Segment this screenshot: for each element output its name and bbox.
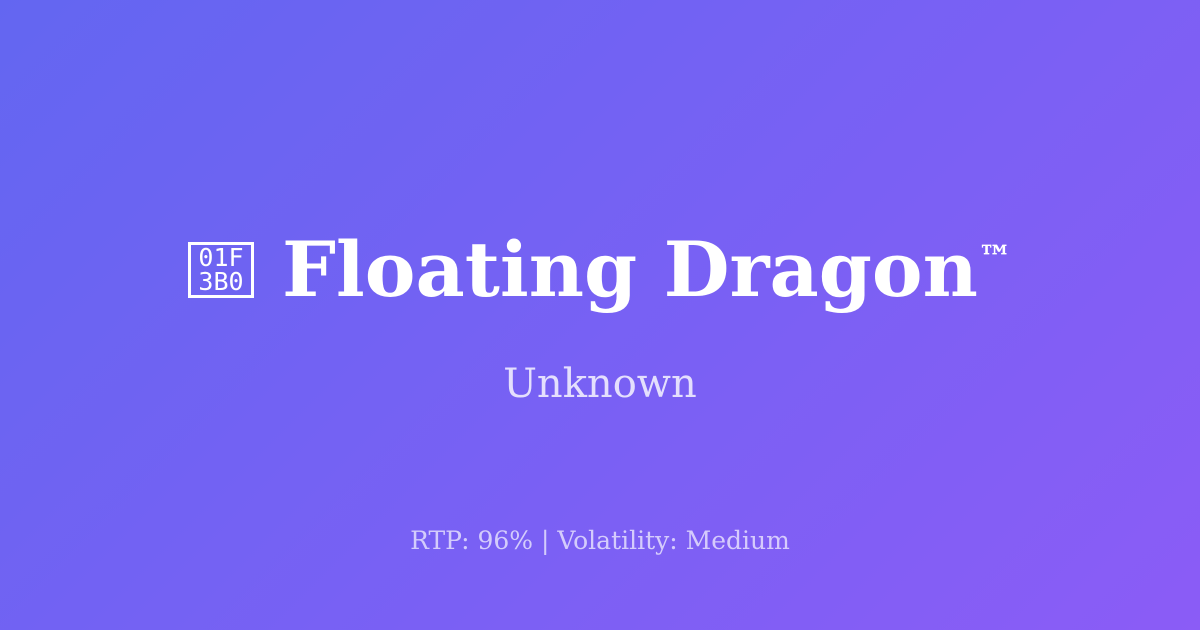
game-stats-meta: RTP: 96% | Volatility: Medium bbox=[0, 526, 1200, 556]
trademark-symbol: ™ bbox=[978, 239, 1012, 279]
tofu-codepoint-lower: 3B0 bbox=[198, 270, 243, 294]
card-subtitle: Unknown bbox=[0, 362, 1200, 406]
game-preview-card: 01F 3B0 Floating Dragon™ Unknown RTP: 96… bbox=[0, 0, 1200, 630]
slot-machine-emoji-icon: 01F 3B0 bbox=[188, 242, 254, 298]
page-title: Floating Dragon™ bbox=[282, 232, 1012, 308]
page-title-text: Floating Dragon bbox=[282, 225, 978, 314]
title-row: 01F 3B0 Floating Dragon™ bbox=[0, 232, 1200, 308]
